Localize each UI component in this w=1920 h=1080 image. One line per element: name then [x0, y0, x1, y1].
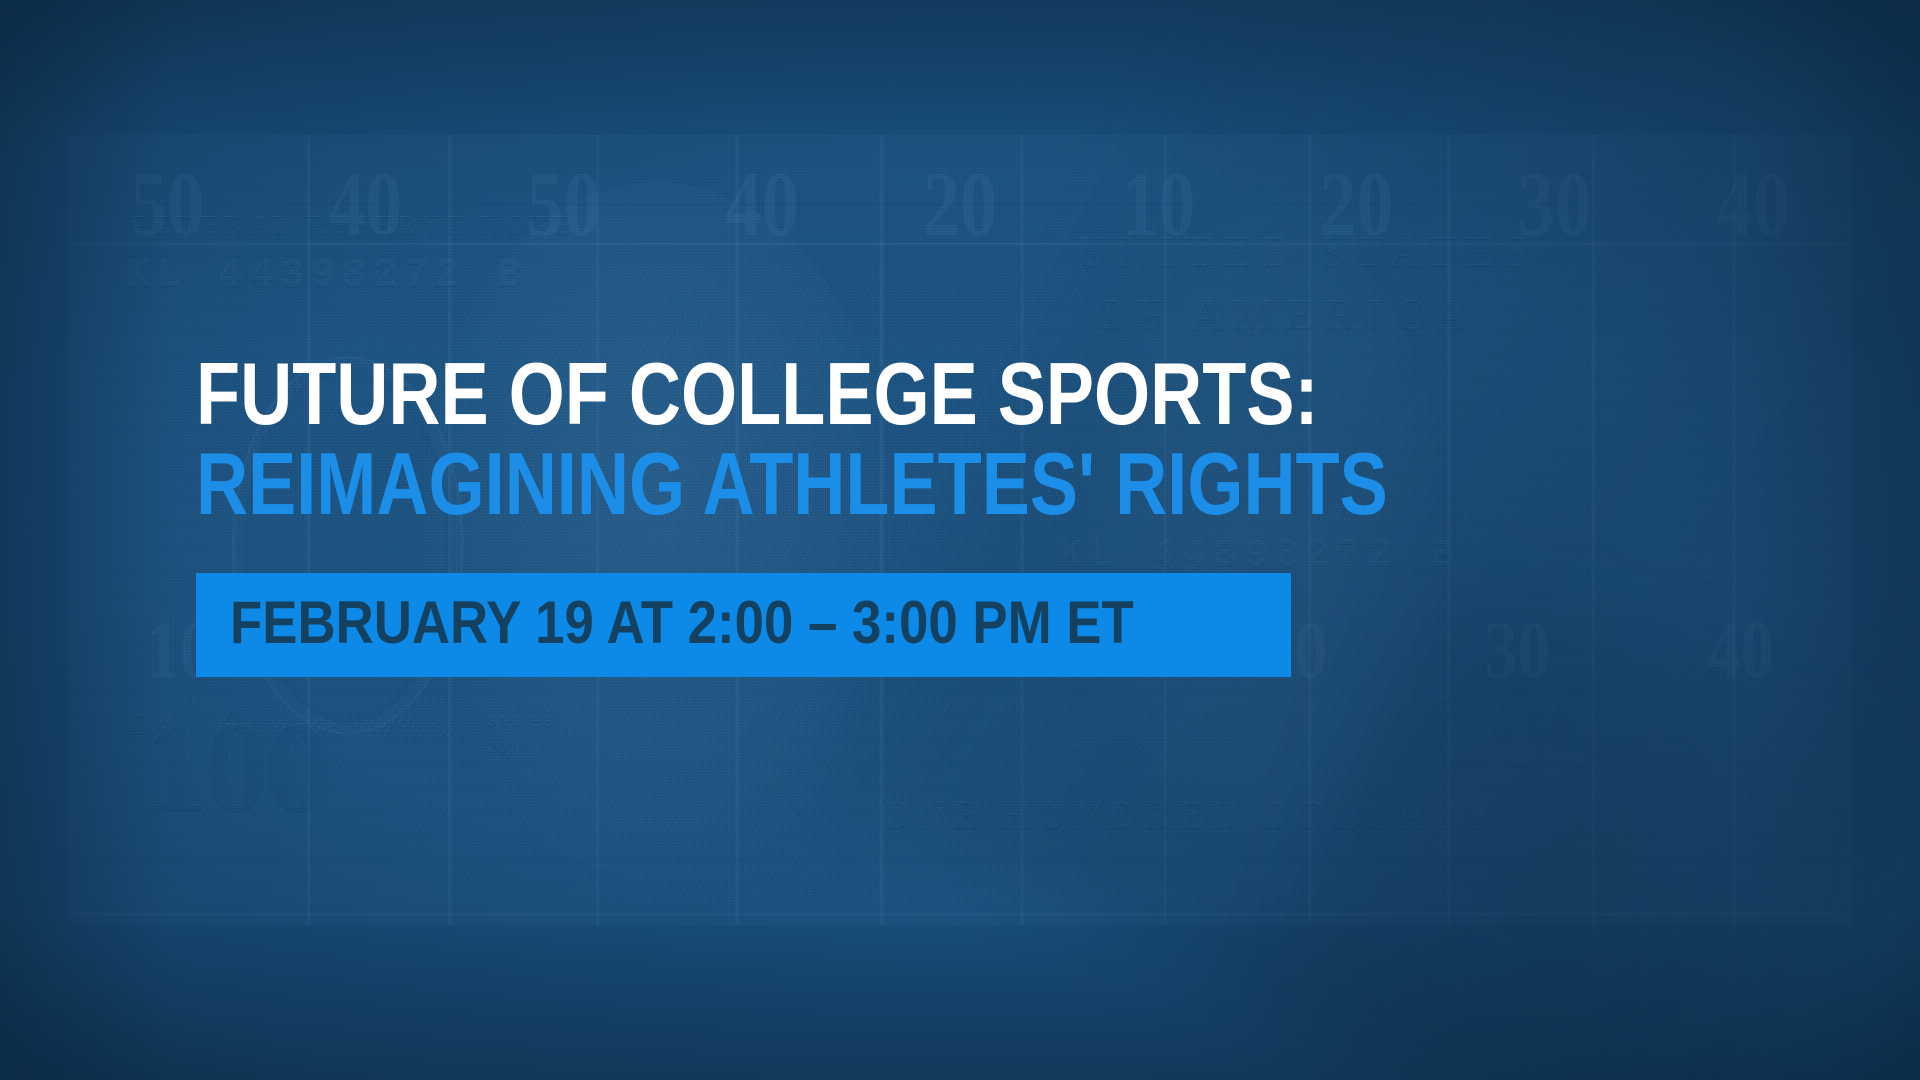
promo-content: FUTURE OF COLLEGE SPORTS: REIMAGINING AT…: [196, 352, 1596, 677]
date-time-banner: FEBRUARY 19 AT 2:00 – 3:00 PM ET: [196, 573, 1291, 677]
headline-line-1: FUTURE OF COLLEGE SPORTS:: [196, 352, 1344, 436]
promo-graphic: 50 40 50 40 20 10 20 30 40 10 50 40 50 4…: [0, 0, 1920, 1080]
headline-line-2: REIMAGINING ATHLETES' RIGHTS: [196, 442, 1344, 526]
date-time-text: FEBRUARY 19 AT 2:00 – 3:00 PM ET: [230, 593, 1134, 653]
